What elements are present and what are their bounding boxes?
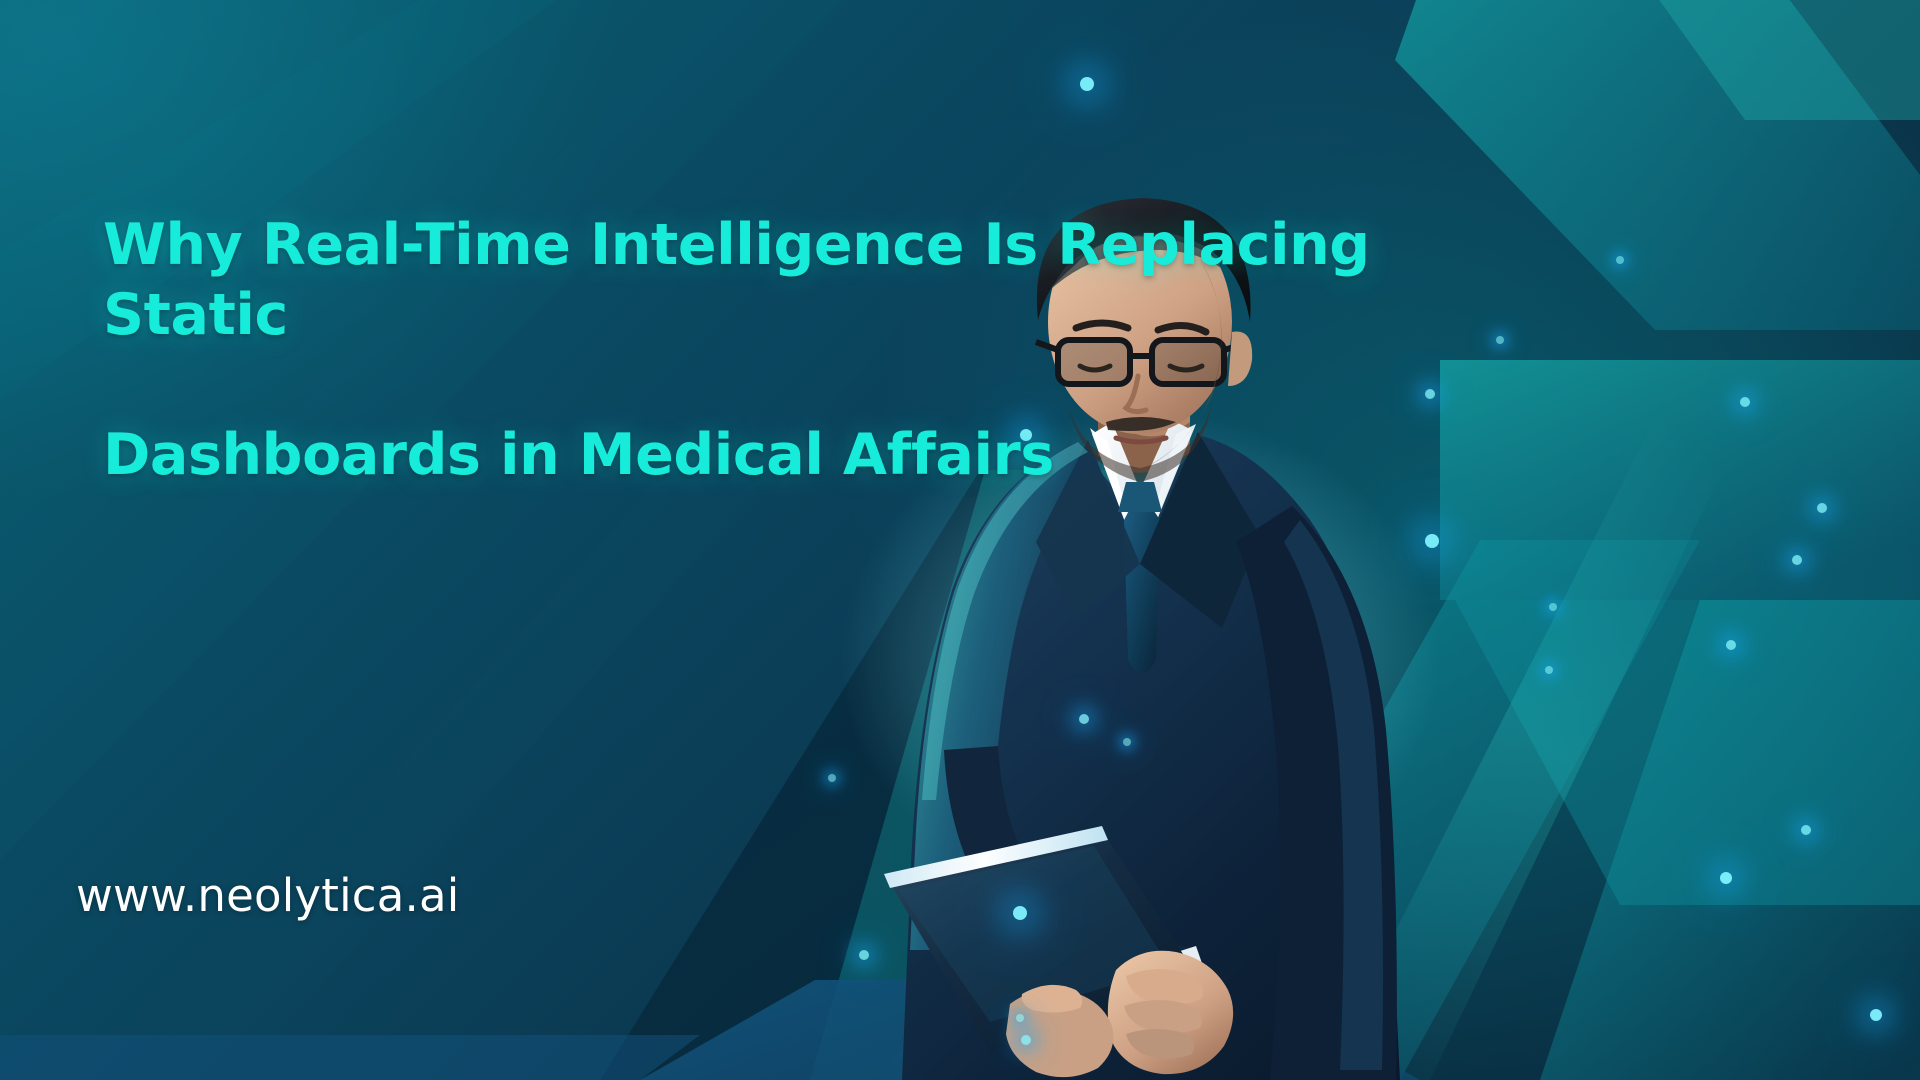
chevron-bottom-left-band	[0, 1035, 700, 1080]
page-title: Why Real-Time Intelligence Is Replacing …	[103, 140, 1523, 560]
hero-banner: Why Real-Time Intelligence Is Replacing …	[0, 0, 1920, 1080]
site-url: www.neolytica.ai	[76, 868, 460, 924]
page-title-line-2: Dashboards in Medical Affairs	[103, 420, 1523, 490]
page-title-line-1: Why Real-Time Intelligence Is Replacing …	[103, 210, 1523, 350]
